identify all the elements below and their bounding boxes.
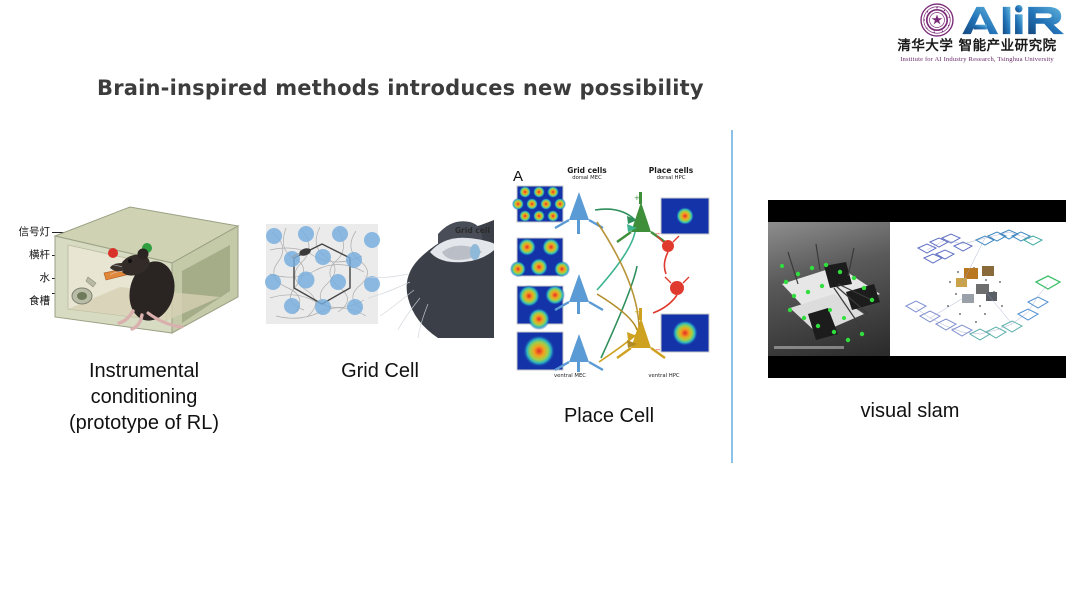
slam-map-view <box>890 222 1066 356</box>
letterbox-bottom <box>768 356 1066 378</box>
logo-top-row <box>882 2 1072 38</box>
vertical-divider <box>731 130 733 463</box>
svg-text:−: − <box>655 230 661 238</box>
slide-title: Brain-inspired methods introduces new po… <box>97 76 704 100</box>
caption-line-2: conditioning <box>30 384 258 410</box>
caption-line-1: Instrumental <box>30 358 258 384</box>
svg-text:+: + <box>634 194 640 202</box>
svg-text:+: + <box>634 308 640 316</box>
letterbox-top <box>768 200 1066 222</box>
svg-text:−: − <box>655 346 661 354</box>
tsinghua-university-seal-icon <box>920 3 954 37</box>
logo-chinese-name: 清华大学 智能产业研究院 <box>882 39 1072 54</box>
caption-instrumental-conditioning: Instrumental conditioning (prototype of … <box>30 358 258 436</box>
slam-camera-view <box>768 222 890 356</box>
air-tsinghua-logo: 清华大学 智能产业研究院 Institute for AI Industry R… <box>882 2 1072 64</box>
slam-video-frame <box>768 222 1066 356</box>
skinner-box-figure: 信号灯 横杆 水 食槽 <box>0 193 290 353</box>
caption-grid-cell: Grid Cell <box>280 358 480 384</box>
air-wordmark-icon <box>960 4 1072 36</box>
caption-line-3: (prototype of RL) <box>30 410 258 436</box>
place-cell-figure: A Grid cells dorsal MEC Place cells dors… <box>505 162 721 394</box>
grid-cell-inline-label: Grid cell <box>455 226 490 235</box>
caption-visual-slam: visual slam <box>810 398 1010 424</box>
visual-slam-figure <box>768 200 1066 378</box>
caption-place-cell: Place Cell <box>505 403 713 429</box>
slide-root: 清华大学 智能产业研究院 Institute for AI Industry R… <box>0 0 1080 591</box>
grid-cell-figure: Grid cell <box>262 212 494 338</box>
logo-english-name: Institute for AI Industry Research, Tsin… <box>882 56 1072 63</box>
